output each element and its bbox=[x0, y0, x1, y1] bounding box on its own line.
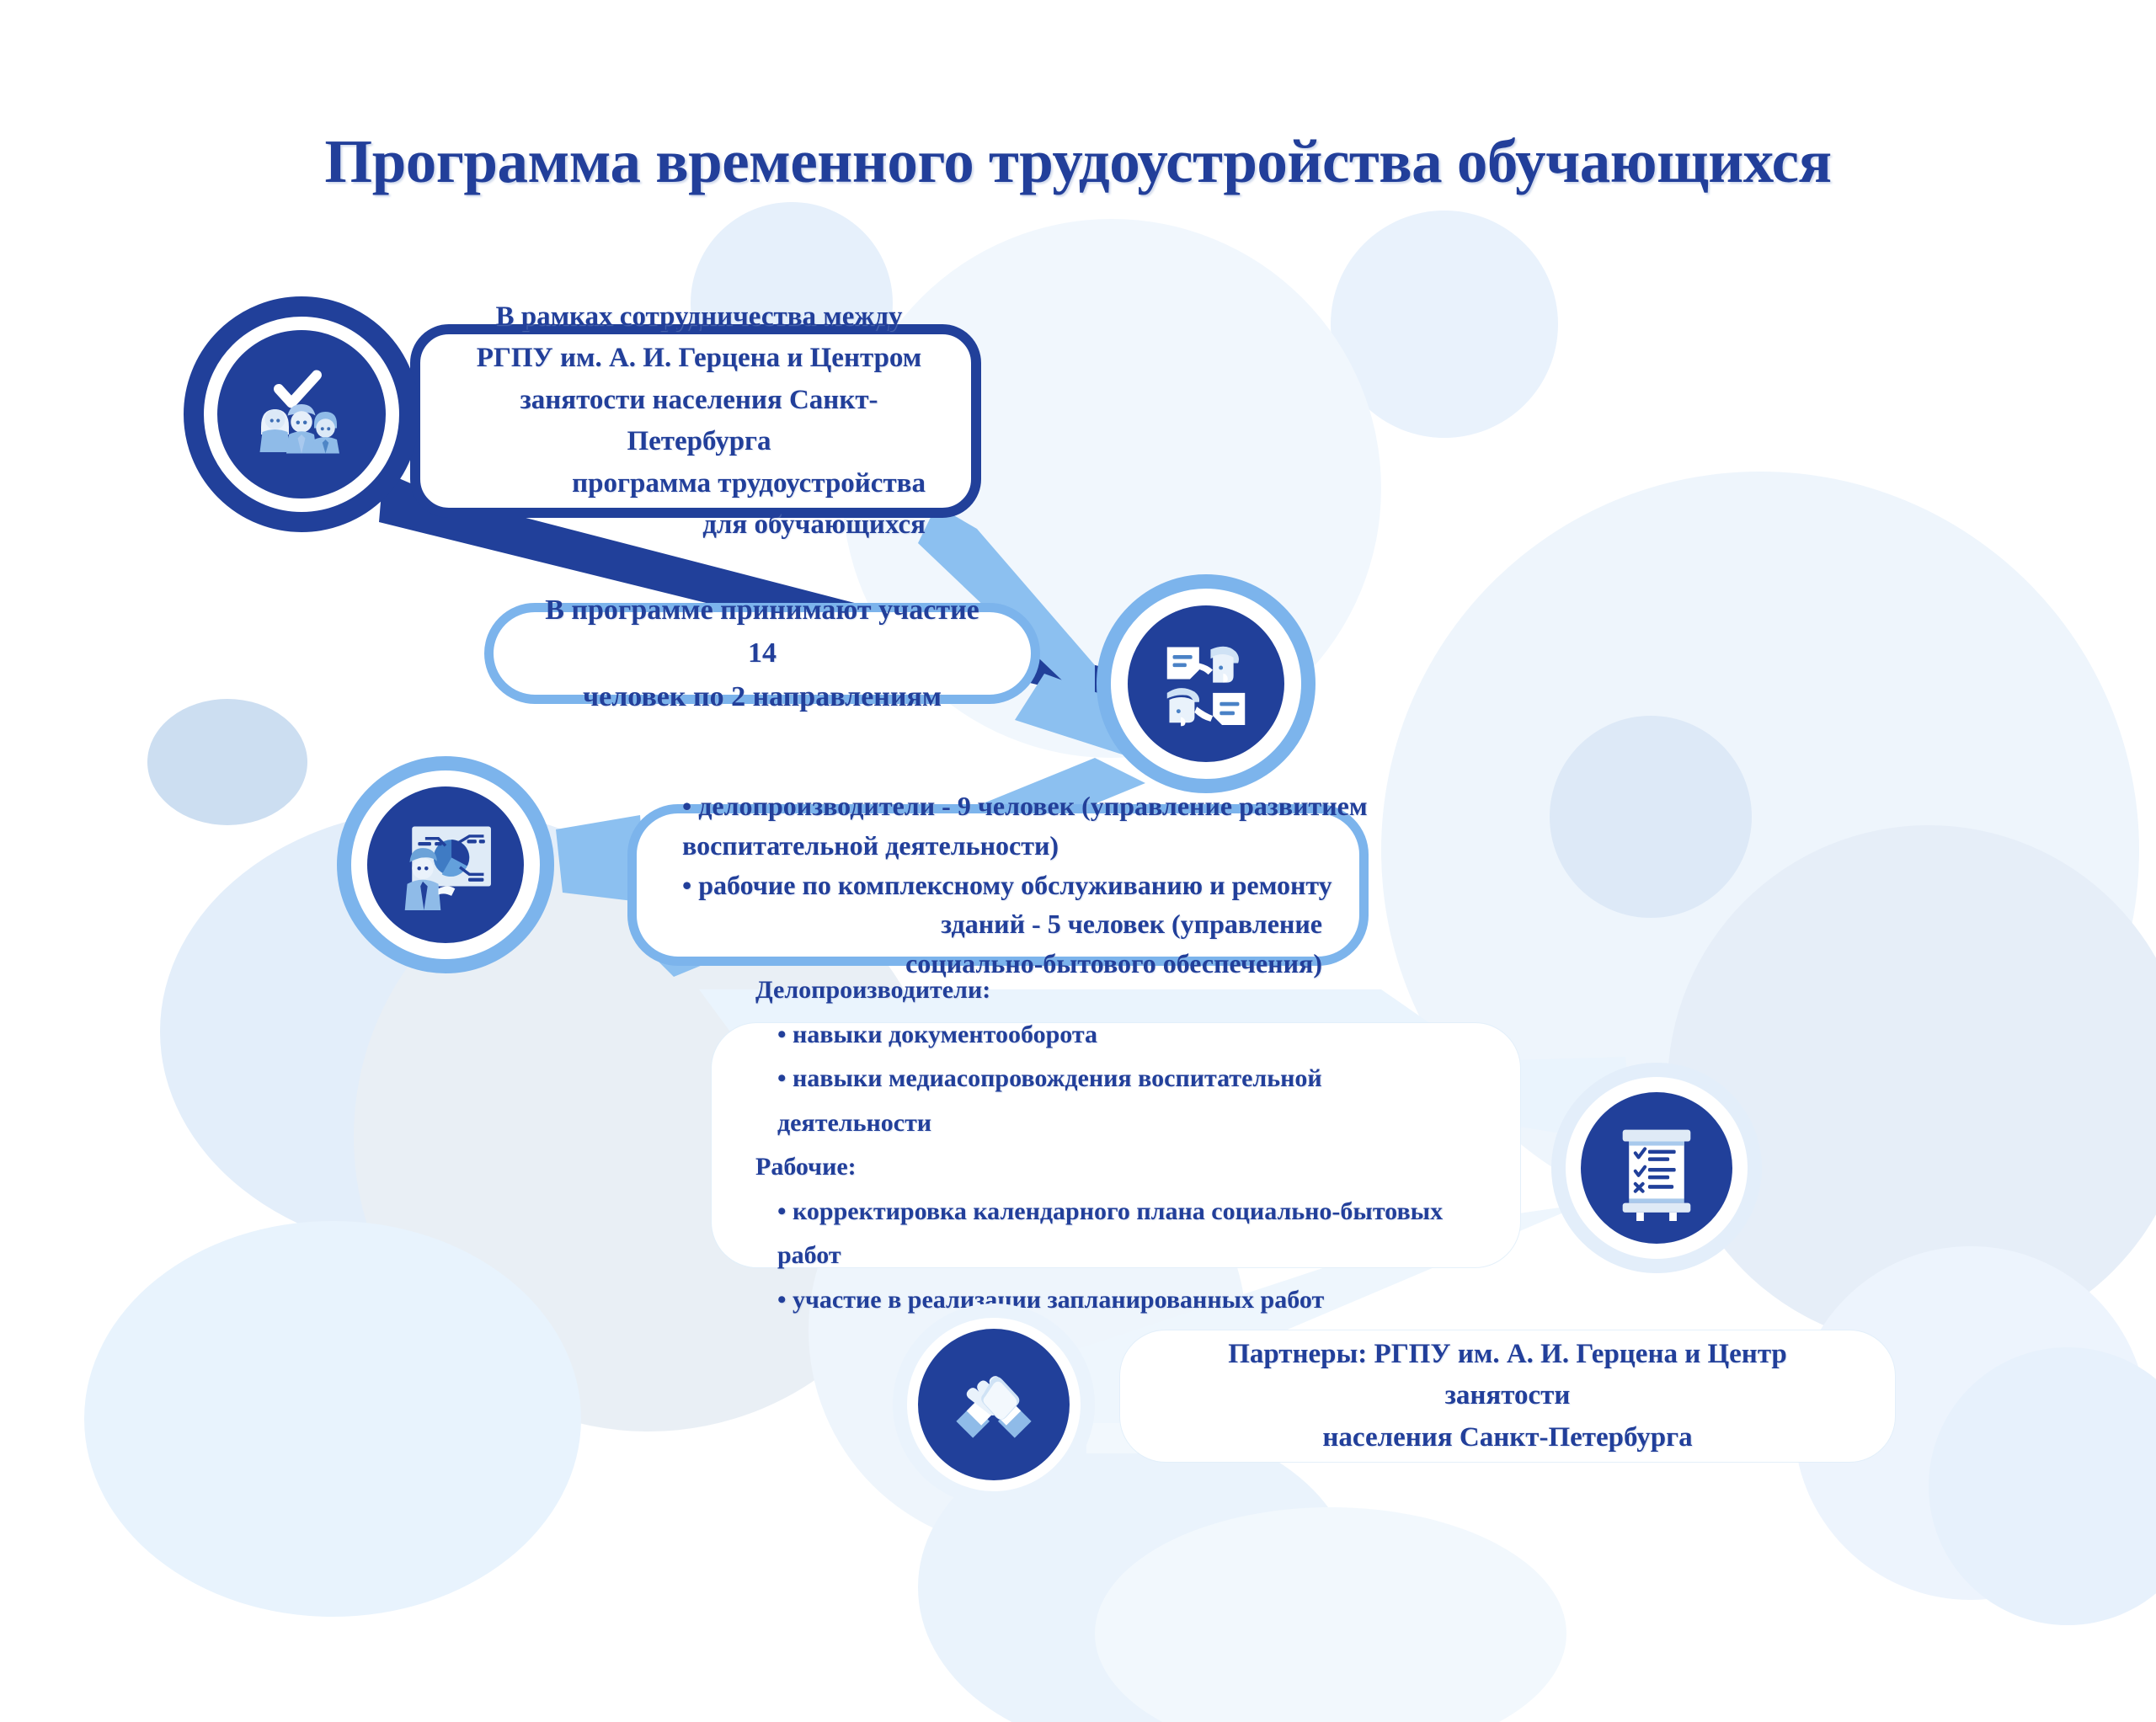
callout-skills: Делопроизводители: • навыки документообо… bbox=[712, 1023, 1520, 1267]
infographic-canvas: Программа временного трудоустройства обу… bbox=[0, 0, 2156, 1722]
callout-line: • навыки медиасопровождения воспитательн… bbox=[755, 1057, 1481, 1145]
handshake-icon bbox=[942, 1352, 1046, 1457]
callout-line: В программе принимают участие 14 bbox=[541, 589, 984, 675]
medallion-partners[interactable] bbox=[893, 1303, 1095, 1506]
callout-line: РГПУ им. А. И. Герцена и Центром bbox=[472, 338, 926, 380]
callout-participants: В программе принимают участие 14 человек… bbox=[484, 603, 1040, 704]
bg-bubble bbox=[1929, 1347, 2156, 1625]
callout-partners: Партнеры: РГПУ им. А. И. Герцена и Центр… bbox=[1120, 1330, 1895, 1462]
callout-line: для обучающихся bbox=[472, 504, 926, 546]
bg-bubble bbox=[147, 699, 307, 825]
callout-line: занятости населения Санкт-Петербурга bbox=[472, 380, 926, 463]
bg-bubble bbox=[1331, 211, 1558, 438]
bg-bubble bbox=[84, 1221, 581, 1617]
bg-bubble bbox=[1550, 716, 1752, 918]
callout-line: Партнеры: РГПУ им. А. И. Герцена и Центр… bbox=[1171, 1334, 1844, 1417]
bg-bubble bbox=[1095, 1507, 1566, 1722]
page-title: Программа временного трудоустройства обу… bbox=[0, 126, 2156, 197]
callout-line: • рабочие по комплексному обслуживанию и… bbox=[682, 866, 1322, 905]
medallion-cooperation[interactable] bbox=[184, 296, 419, 532]
medallion-participants[interactable] bbox=[1097, 574, 1315, 793]
callout-heading: Рабочие: bbox=[755, 1145, 1481, 1190]
medallion-directions[interactable] bbox=[337, 756, 554, 973]
callout-line: • делопроизводители - 9 человек (управле… bbox=[682, 786, 1322, 826]
callout-cooperation: В рамках сотрудничества между РГПУ им. А… bbox=[410, 324, 981, 518]
callout-line: В рамках сотрудничества между bbox=[472, 296, 926, 339]
callout-directions: • делопроизводители - 9 человек (управле… bbox=[627, 804, 1369, 966]
bg-bubble bbox=[1668, 825, 2156, 1347]
callout-line: воспитательной деятельности) bbox=[682, 826, 1322, 866]
callout-line: • участие в реализации запланированных р… bbox=[755, 1278, 1481, 1323]
callout-line: зданий - 5 человек (управление bbox=[682, 904, 1322, 944]
callout-line: населения Санкт-Петербурга bbox=[1171, 1417, 1844, 1459]
people-check-icon bbox=[238, 351, 365, 477]
checklist-flipchart-icon bbox=[1604, 1115, 1710, 1221]
presenter-chart-icon bbox=[386, 805, 505, 925]
callout-line: • навыки документооборота bbox=[755, 1013, 1481, 1058]
medallion-skills[interactable] bbox=[1551, 1063, 1762, 1273]
callout-line: программа трудоустройства bbox=[472, 463, 926, 505]
callout-heading: Делопроизводители: bbox=[755, 968, 1481, 1013]
document-exchange-icon bbox=[1149, 626, 1263, 741]
callout-line: • корректировка календарного плана социа… bbox=[755, 1190, 1481, 1278]
callout-line: человек по 2 направлениям bbox=[541, 675, 984, 719]
